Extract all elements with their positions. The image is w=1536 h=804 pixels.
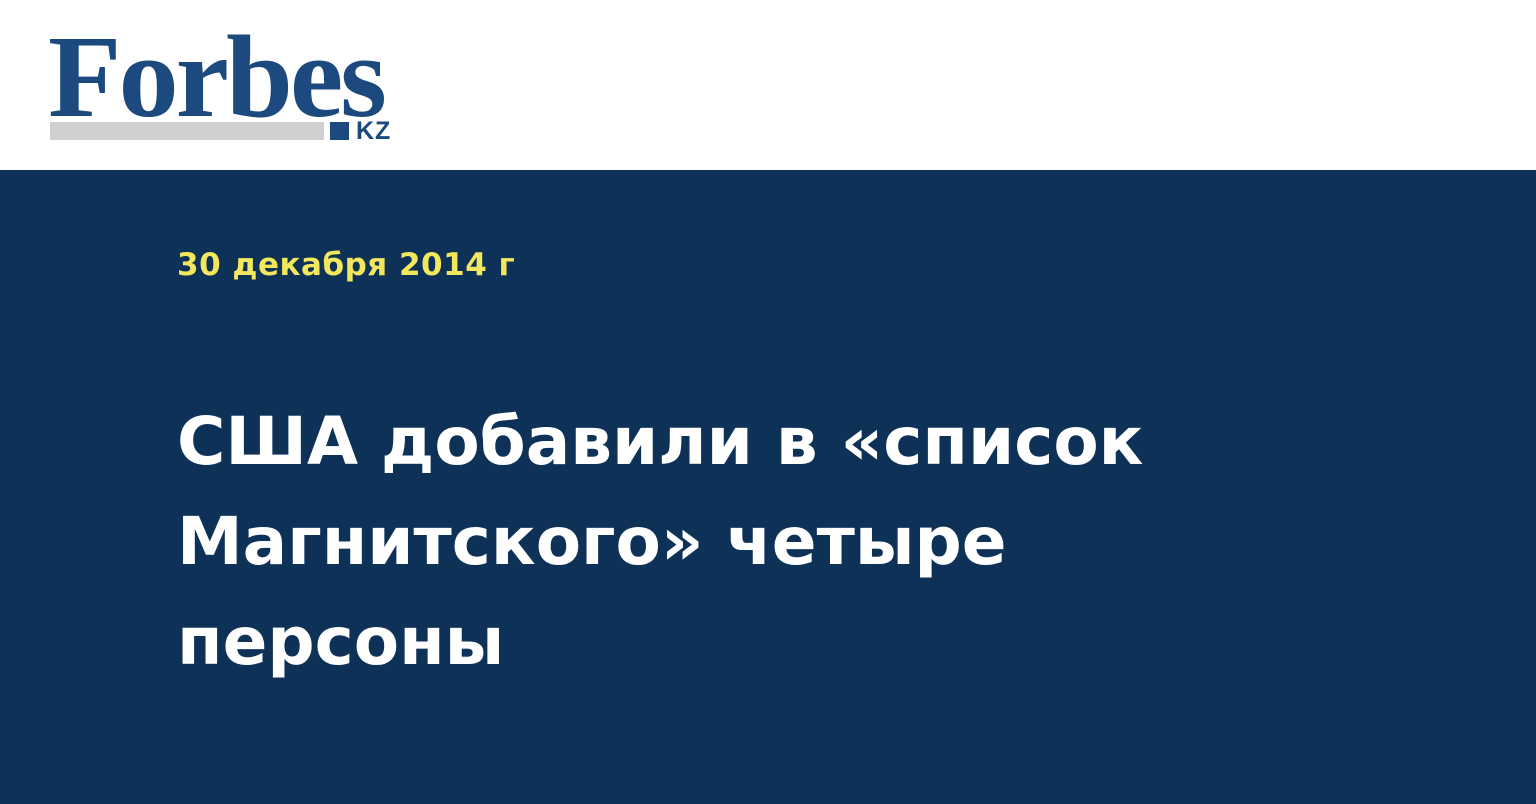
logo-edition-label: KZ [356, 119, 391, 144]
article-date: 30 декабря 2014 г [177, 246, 515, 284]
forbes-wordmark: Forbes [48, 18, 384, 136]
forbes-kz-logo[interactable]: Forbes KZ [48, 18, 408, 146]
site-header: Forbes KZ [0, 0, 1536, 170]
article-headline: США добавили в «список Магнитского» четы… [177, 392, 1297, 692]
article-hero-page: Forbes KZ 30 декабря 2014 г США добавили… [0, 0, 1536, 804]
article-hero-panel: 30 декабря 2014 г США добавили в «список… [0, 170, 1536, 804]
logo-square-icon [330, 122, 349, 140]
logo-underbar-icon [50, 122, 324, 140]
